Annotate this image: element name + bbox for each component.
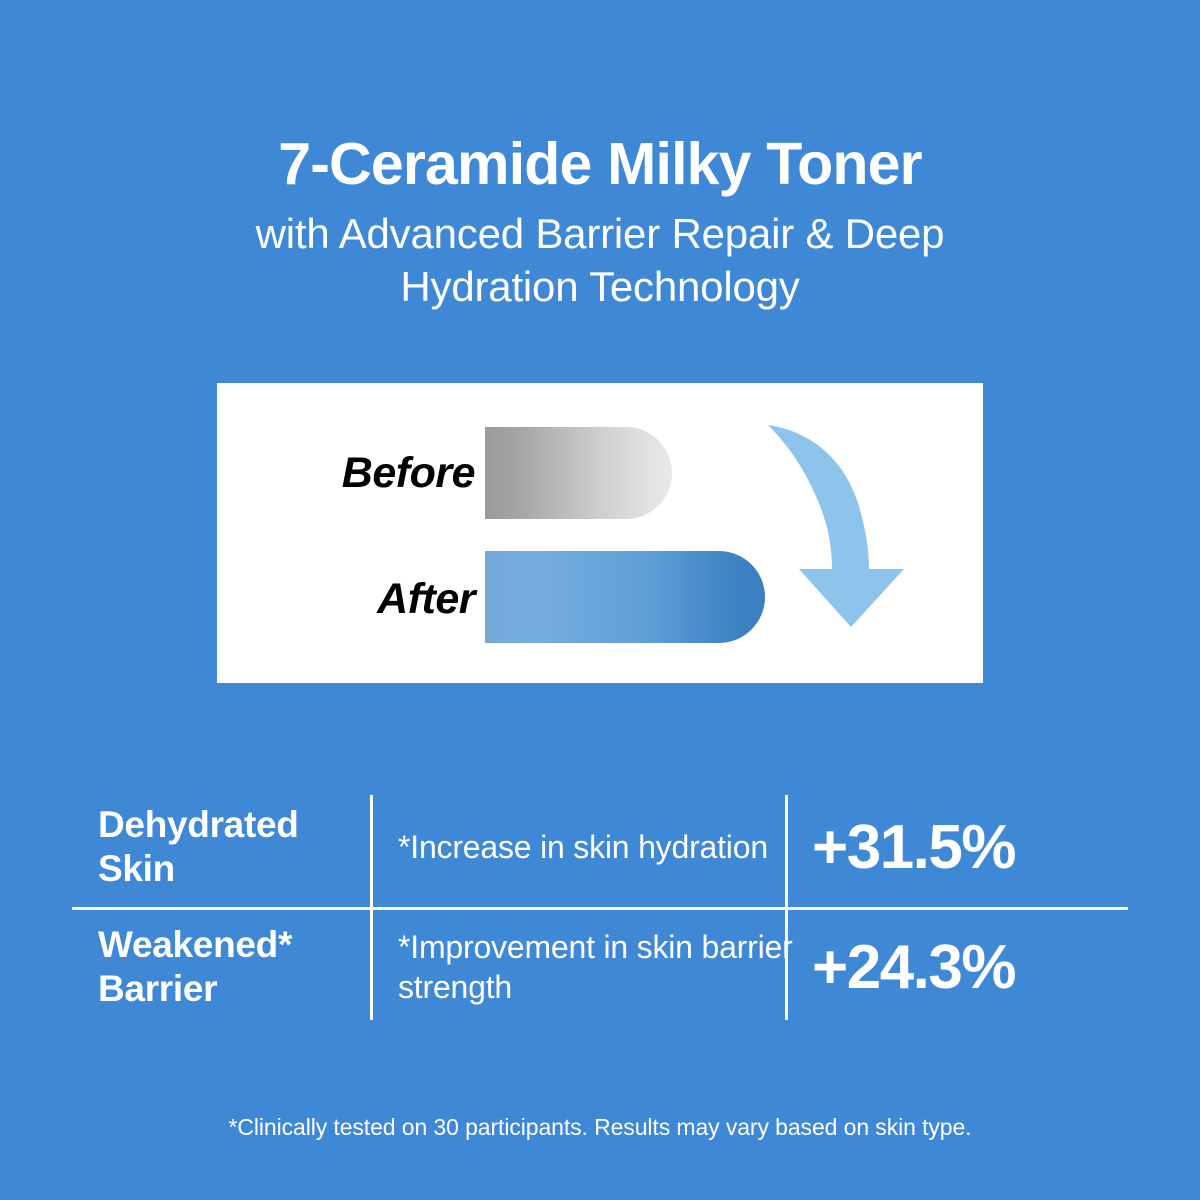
after-label: After bbox=[247, 575, 475, 624]
page-title: 7-Ceramide Milky Toner bbox=[0, 0, 1200, 194]
stat-metric: *Increase in skin hydration bbox=[398, 790, 798, 904]
curved-down-arrow-icon bbox=[765, 411, 935, 631]
header: 7-Ceramide Milky Toner with Advanced Bar… bbox=[0, 0, 1200, 314]
page-subtitle: with Advanced Barrier Repair & Deep Hydr… bbox=[0, 194, 1200, 314]
after-bar bbox=[485, 551, 765, 643]
before-label: Before bbox=[247, 449, 475, 498]
table-row: Weakened* Barrier *Improvement in skin b… bbox=[72, 910, 1128, 1024]
stat-condition: Weakened* Barrier bbox=[98, 910, 370, 1024]
page-subtitle-line-1: with Advanced Barrier Repair & Deep bbox=[0, 208, 1200, 261]
stat-value: +24.3% bbox=[812, 910, 1112, 1024]
stat-condition: Dehydrated Skin bbox=[98, 790, 370, 904]
row-divider bbox=[72, 907, 1128, 910]
page-subtitle-line-2: Hydration Technology bbox=[0, 261, 1200, 314]
stat-metric: *Improvement in skin barrier strength bbox=[398, 910, 798, 1024]
before-bar bbox=[485, 427, 672, 519]
table-row: Dehydrated Skin *Increase in skin hydrat… bbox=[72, 790, 1128, 904]
stat-value: +31.5% bbox=[812, 790, 1112, 904]
stats-table: Dehydrated Skin *Increase in skin hydrat… bbox=[72, 790, 1128, 1020]
footnote-disclaimer: *Clinically tested on 30 participants. R… bbox=[0, 1114, 1200, 1141]
before-after-card: Before After bbox=[217, 383, 983, 683]
